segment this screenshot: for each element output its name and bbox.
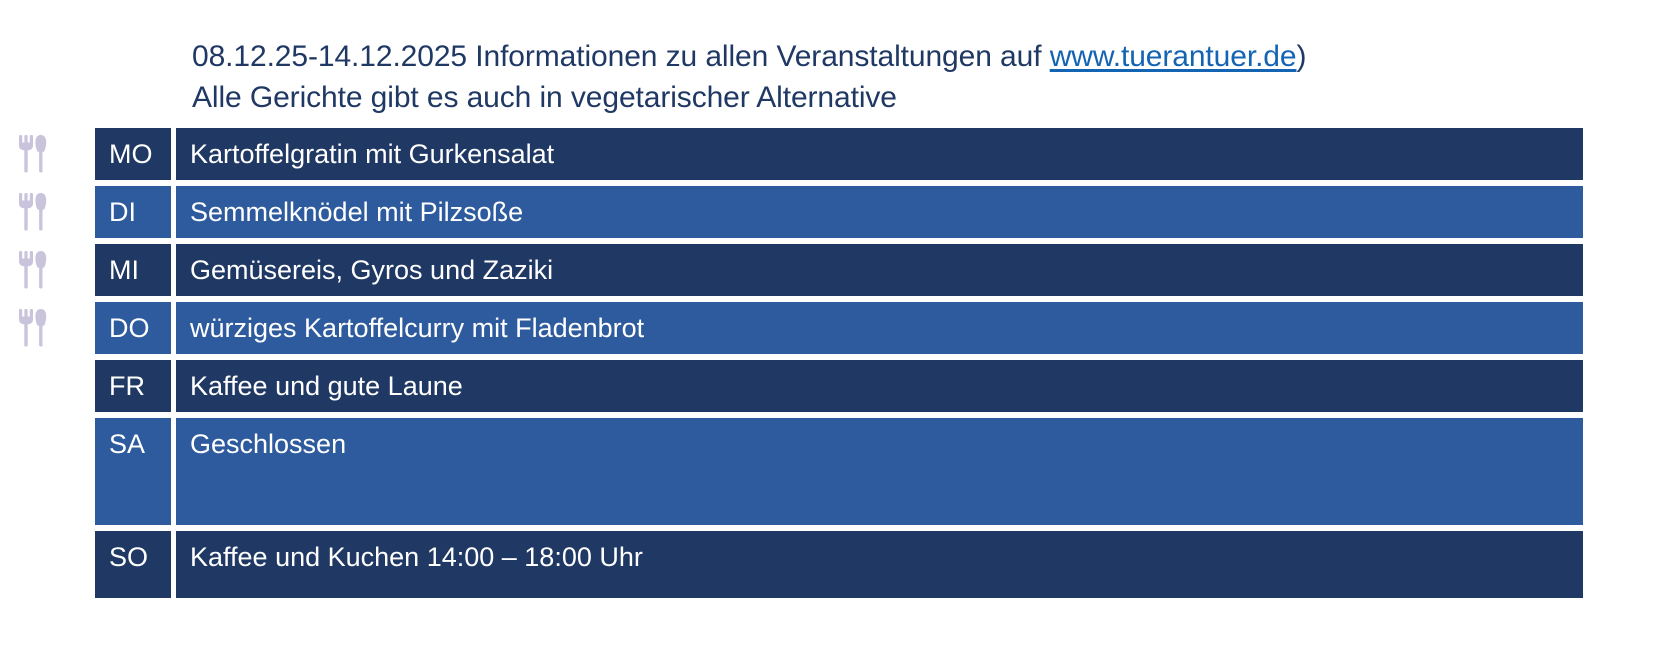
- cutlery-slot: [0, 125, 92, 183]
- header-text-block: 08.12.25-14.12.2025 Informationen zu all…: [192, 36, 1532, 118]
- cutlery-slot: [0, 183, 92, 241]
- fork-and-knife-icon: [18, 134, 52, 174]
- fork-and-knife-icon: [18, 308, 52, 348]
- date-range-and-info-text: 08.12.25-14.12.2025 Informationen zu all…: [192, 40, 1050, 73]
- day-cell: MO: [95, 125, 176, 183]
- table-row: FRKaffee und gute Laune: [95, 357, 1583, 415]
- day-cell: DO: [95, 299, 176, 357]
- day-cell: SO: [95, 528, 176, 601]
- day-cell: FR: [95, 357, 176, 415]
- cutlery-slot: [0, 241, 92, 299]
- menu-poster: 08.12.25-14.12.2025 Informationen zu all…: [0, 0, 1671, 670]
- dish-cell: würziges Kartoffelcurry mit Fladenbrot: [176, 299, 1583, 357]
- dish-cell: Kaffee und gute Laune: [176, 357, 1583, 415]
- table-row: DISemmelknödel mit Pilzsoße: [95, 183, 1583, 241]
- day-cell: DI: [95, 183, 176, 241]
- day-cell: MI: [95, 241, 176, 299]
- cutlery-slot: [0, 357, 92, 415]
- dish-cell: Geschlossen: [176, 415, 1583, 528]
- fork-and-knife-icon: [18, 192, 52, 232]
- cutlery-slot: [0, 299, 92, 357]
- weekly-menu-table: MOKartoffelgratin mit GurkensalatDISemme…: [95, 125, 1583, 601]
- header-line-2: Alle Gerichte gibt es auch in vegetarisc…: [192, 77, 1532, 118]
- table-row: DOwürziges Kartoffelcurry mit Fladenbrot: [95, 299, 1583, 357]
- table-row: MIGemüsereis, Gyros und Zaziki: [95, 241, 1583, 299]
- website-link[interactable]: www.tuerantuer.de: [1050, 40, 1297, 73]
- table-row: MOKartoffelgratin mit Gurkensalat: [95, 125, 1583, 183]
- dish-cell: Gemüsereis, Gyros und Zaziki: [176, 241, 1583, 299]
- dish-cell: Kartoffelgratin mit Gurkensalat: [176, 125, 1583, 183]
- dish-cell: Semmelknödel mit Pilzsoße: [176, 183, 1583, 241]
- cutlery-icon-column: [0, 125, 92, 531]
- header-line-1: 08.12.25-14.12.2025 Informationen zu all…: [192, 36, 1532, 77]
- cutlery-slot: [0, 415, 92, 473]
- table-row: SAGeschlossen: [95, 415, 1583, 528]
- weekly-menu-body: MOKartoffelgratin mit GurkensalatDISemme…: [95, 125, 1583, 601]
- day-cell: SA: [95, 415, 176, 528]
- table-row: SOKaffee und Kuchen 14:00 – 18:00 Uhr: [95, 528, 1583, 601]
- cutlery-slot: [0, 473, 92, 531]
- dish-cell: Kaffee und Kuchen 14:00 – 18:00 Uhr: [176, 528, 1583, 601]
- fork-and-knife-icon: [18, 250, 52, 290]
- closing-paren: ): [1296, 40, 1306, 73]
